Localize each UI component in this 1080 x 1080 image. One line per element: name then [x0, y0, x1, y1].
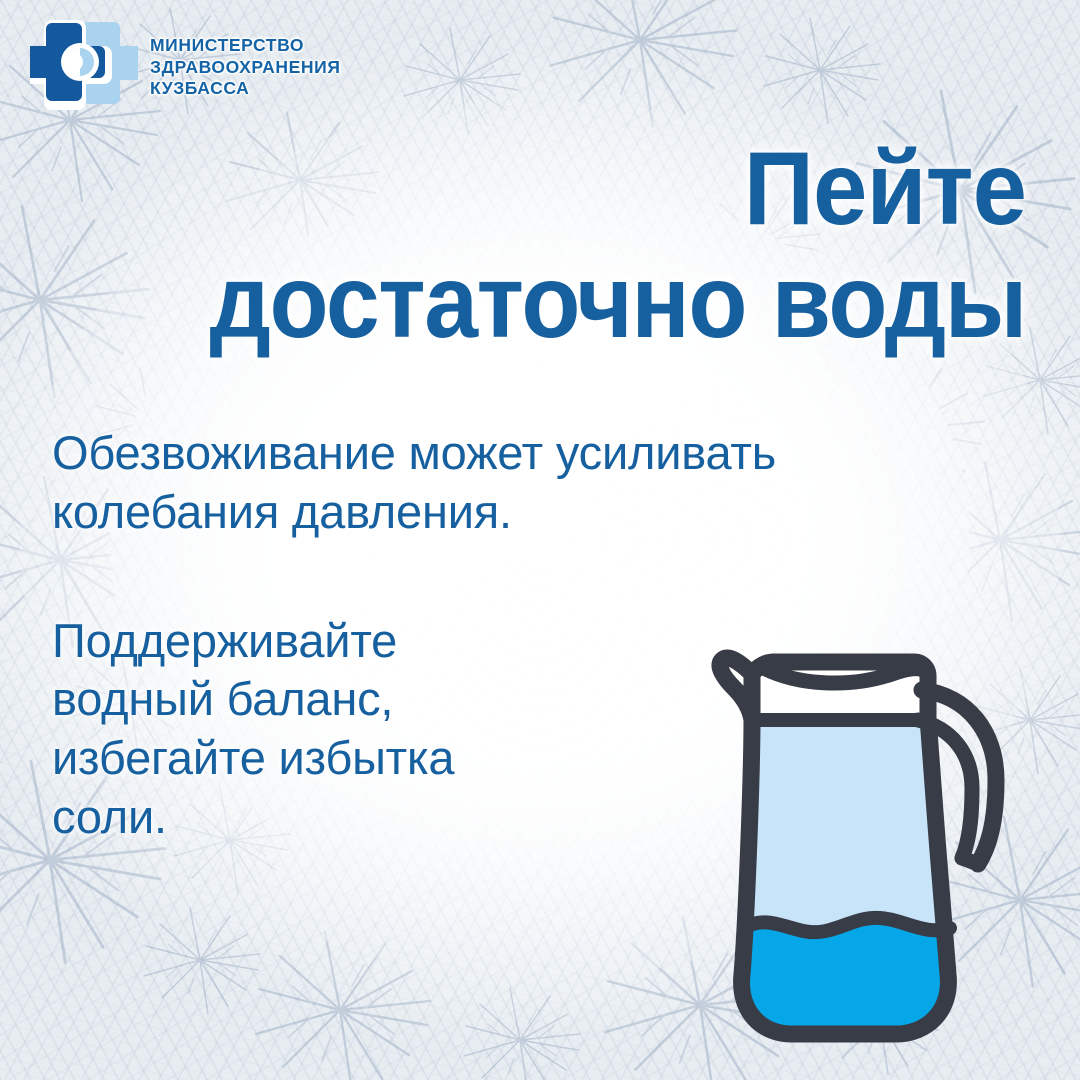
body-paragraph-1: Обезвоживание может усиливать колебания … [52, 424, 932, 542]
body-paragraph-2: Поддерживайте водный баланс, избегайте и… [52, 612, 612, 847]
ministry-logo: МИНИСТЕРСТВО ЗДРАВООХРАНЕНИЯ КУЗБАССА [30, 16, 341, 116]
page-title: Пейте достаточно воды [40, 140, 1026, 352]
logo-line-2: ЗДРАВООХРАНЕНИЯ [150, 57, 341, 77]
logo-line-1: МИНИСТЕРСТВО [150, 35, 341, 55]
ministry-logo-text: МИНИСТЕРСТВО ЗДРАВООХРАНЕНИЯ КУЗБАССА [150, 33, 341, 98]
logo-line-3: КУЗБАССА [150, 78, 341, 98]
water-pitcher-illustration [700, 628, 1030, 1058]
poster-canvas: МИНИСТЕРСТВО ЗДРАВООХРАНЕНИЯ КУЗБАССА Пе… [0, 0, 1080, 1080]
ministry-health-cross-emblem-icon [30, 16, 138, 116]
headline-line-1: Пейте [99, 140, 1026, 239]
water-pitcher-icon [700, 628, 1030, 1058]
headline-line-2: достаточно воды [109, 253, 1026, 352]
pitcher-handle-tip [962, 858, 978, 864]
